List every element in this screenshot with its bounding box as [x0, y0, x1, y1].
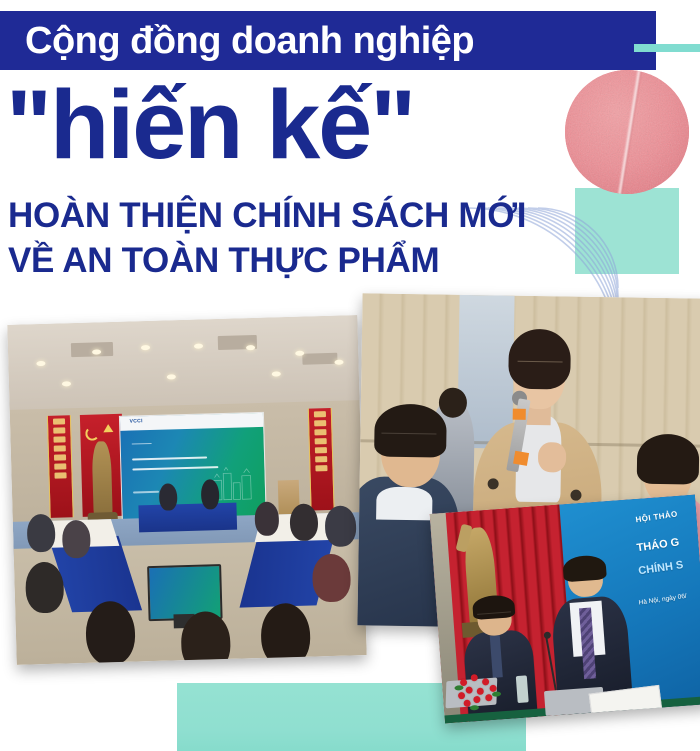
- subheadline-line-2: VỀ AN TOÀN THỰC PHẨM: [8, 243, 439, 278]
- statue-icon: [91, 441, 112, 516]
- photo-conference-hall: VCCI: [7, 315, 366, 665]
- backdrop-line-2: THÁO G: [636, 536, 680, 554]
- photo-man-podium: HỘI THẢO THÁO G CHÍNH S Hà Nội, ngày 06/: [430, 495, 700, 724]
- article-cover-graphic: Cộng đồng doanh nghiệp "hi: [0, 0, 700, 751]
- head-table: [138, 502, 237, 532]
- kicker-text: Cộng đồng doanh nghiệp: [0, 22, 474, 60]
- backdrop-line-3: CHÍNH S: [637, 559, 683, 577]
- teal-dash-accent: [634, 44, 700, 52]
- kicker-banner: Cộng đồng doanh nghiệp: [0, 11, 656, 70]
- page-headline: "hiến kế": [6, 76, 646, 175]
- star-icon: [103, 424, 113, 432]
- vcci-logo: VCCI: [130, 418, 143, 424]
- backdrop-line-4: Hà Nội, ngày 06/: [639, 592, 688, 606]
- red-vertical-banner-left: [47, 415, 74, 518]
- flower-bouquet: [452, 667, 525, 722]
- backdrop-line-1: HỘI THẢO: [635, 509, 678, 524]
- subheadline-line-1: HOÀN THIỆN CHÍNH SÁCH MỚI: [8, 198, 526, 233]
- glasses-icon: [517, 360, 562, 375]
- glasses-icon: [381, 433, 437, 448]
- mint-rectangle-right: [575, 188, 679, 274]
- red-vertical-banner-right: [307, 408, 334, 511]
